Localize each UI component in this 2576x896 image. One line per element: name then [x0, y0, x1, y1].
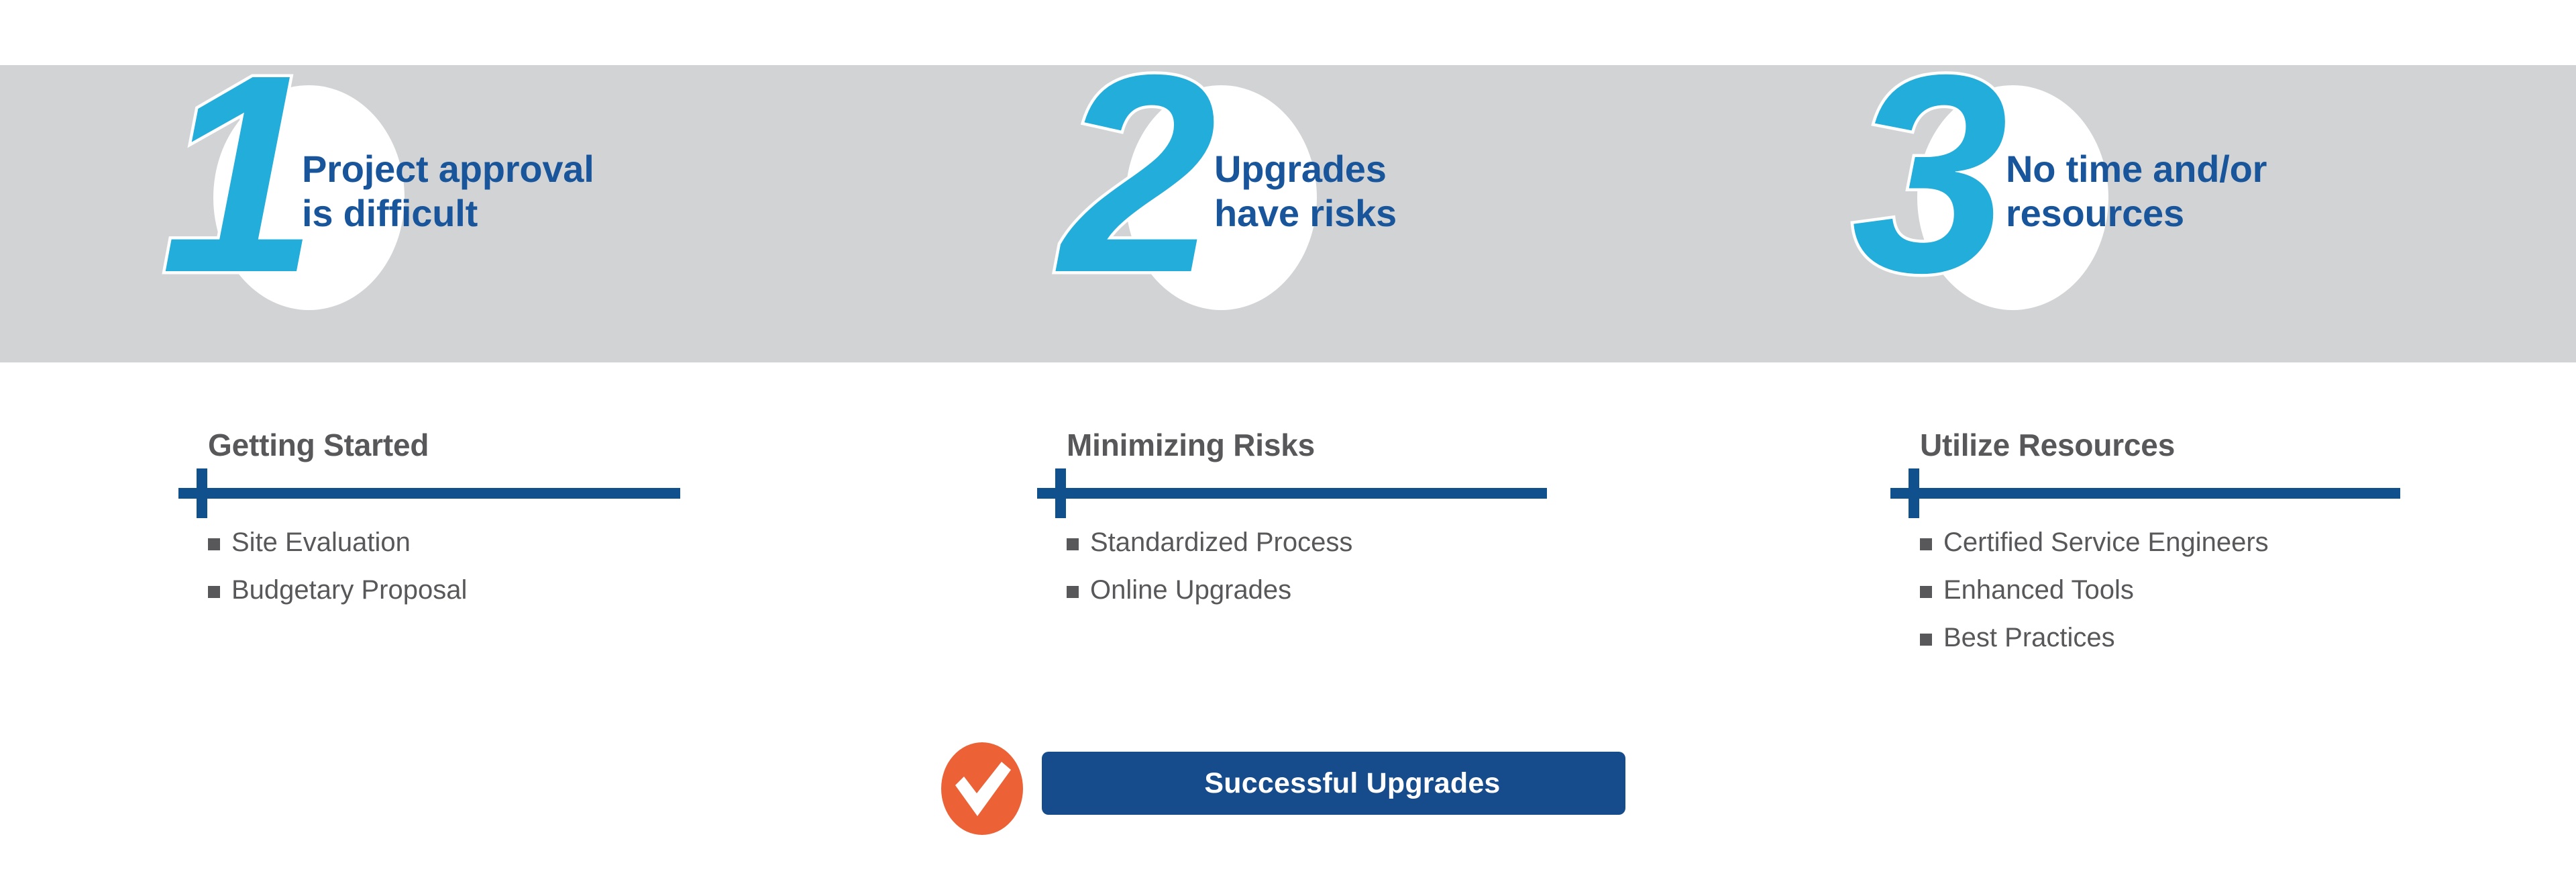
- problem-title-1: Project approval is difficult: [302, 147, 594, 236]
- solution-column-minimizing-risks: Minimizing Risks Standardized Process On…: [1067, 430, 1576, 624]
- solution-heading-2: Minimizing Risks: [1067, 430, 1576, 460]
- solution-column-getting-started: Getting Started Site Evaluation Budgetar…: [208, 430, 718, 624]
- list-item: Certified Service Engineers: [1920, 529, 2430, 556]
- problem-number-3: 3: [1851, 34, 2002, 315]
- solution-heading-3: Utilize Resources: [1920, 430, 2430, 460]
- solution-heading-1: Getting Started: [208, 430, 718, 460]
- list-item-label: Budgetary Proposal: [231, 577, 467, 603]
- problem-item-1: 1 Project approval is difficult: [134, 65, 939, 362]
- list-item: Budgetary Proposal: [208, 577, 718, 603]
- bullet-square-icon: [1920, 538, 1932, 550]
- list-item-label: Online Upgrades: [1090, 577, 1291, 603]
- cross-rule-3: [1890, 468, 2430, 518]
- rule-vertical-bar: [1055, 468, 1066, 518]
- check-circle-icon: [941, 742, 1023, 835]
- list-item: Enhanced Tools: [1920, 577, 2430, 603]
- problem-title-3: No time and/or resources: [2006, 147, 2267, 236]
- bullet-square-icon: [208, 586, 220, 598]
- solution-list-1: Site Evaluation Budgetary Proposal: [208, 529, 718, 603]
- bullet-square-icon: [208, 538, 220, 550]
- list-item-label: Certified Service Engineers: [1943, 529, 2269, 556]
- list-item-label: Best Practices: [1943, 624, 2115, 651]
- bullet-square-icon: [1920, 634, 1932, 646]
- list-item: Online Upgrades: [1067, 577, 1576, 603]
- list-item-label: Standardized Process: [1090, 529, 1352, 556]
- cross-rule-1: [178, 468, 718, 518]
- list-item-label: Enhanced Tools: [1943, 577, 2134, 603]
- success-bar: Successful Upgrades: [1042, 752, 1625, 815]
- list-item: Standardized Process: [1067, 529, 1576, 556]
- rule-horizontal-bar: [1037, 488, 1547, 499]
- solution-column-utilize-resources: Utilize Resources Certified Service Engi…: [1920, 430, 2430, 672]
- list-item-label: Site Evaluation: [231, 529, 411, 556]
- problems-band: 1 Project approval is difficult 2 Upgrad…: [0, 65, 2576, 362]
- successful-upgrades-banner: Successful Upgrades: [941, 742, 1625, 835]
- list-item: Site Evaluation: [208, 529, 718, 556]
- rule-vertical-bar: [197, 468, 207, 518]
- list-item: Best Practices: [1920, 624, 2430, 651]
- solution-list-2: Standardized Process Online Upgrades: [1067, 529, 1576, 603]
- problem-title-2: Upgrades have risks: [1214, 147, 1397, 236]
- problem-number-1: 1: [161, 34, 312, 315]
- rule-horizontal-bar: [178, 488, 680, 499]
- rule-vertical-bar: [1909, 468, 1919, 518]
- success-label: Successful Upgrades: [1204, 767, 1500, 800]
- problem-item-2: 2 Upgrades have risks: [1046, 65, 1851, 362]
- cross-rule-2: [1037, 468, 1576, 518]
- bullet-square-icon: [1920, 586, 1932, 598]
- problem-item-3: 3 No time and/or resources: [1838, 65, 2576, 362]
- bullet-square-icon: [1067, 586, 1079, 598]
- problem-number-2: 2: [1060, 34, 1211, 315]
- rule-horizontal-bar: [1890, 488, 2400, 499]
- solution-list-3: Certified Service Engineers Enhanced Too…: [1920, 529, 2430, 651]
- bullet-square-icon: [1067, 538, 1079, 550]
